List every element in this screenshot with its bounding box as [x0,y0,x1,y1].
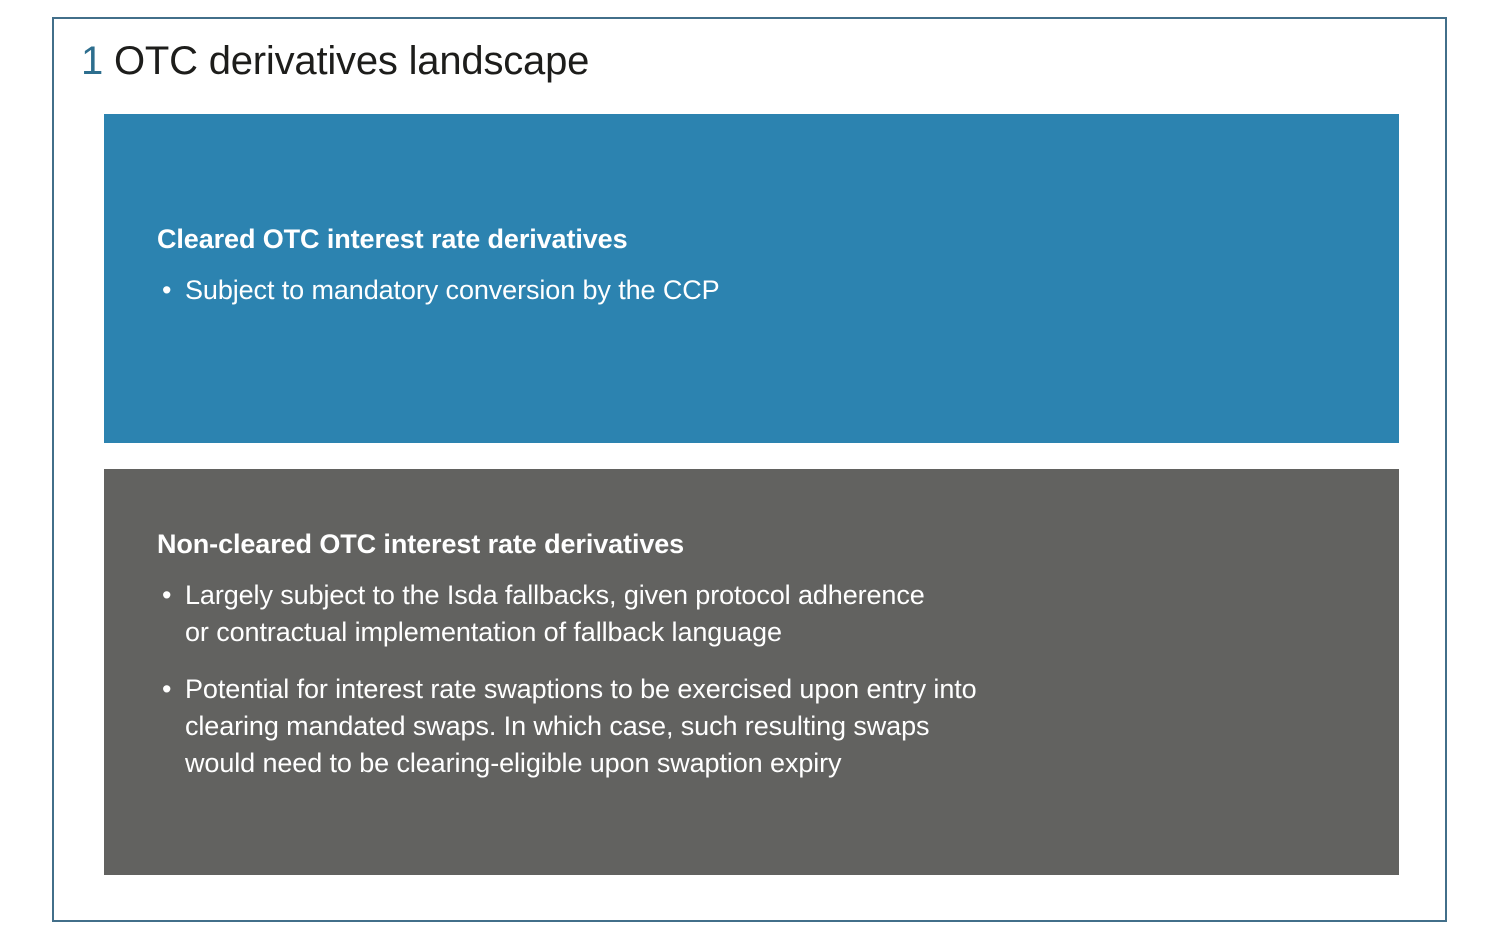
title-number: 1 [81,39,103,83]
bullet-line: would need to be clearing-eligible upon … [185,745,1369,782]
panel-non-cleared-bullet-list: • Largely subject to the Isda fallbacks,… [157,577,1369,782]
page-title: 1 OTC derivatives landscape [81,37,589,85]
bullet-line: or contractual implementation of fallbac… [185,614,1369,651]
figure-frame: 1 OTC derivatives landscape Cleared OTC … [52,17,1447,922]
panel-non-cleared-otc: Non-cleared OTC interest rate derivative… [104,469,1399,875]
bullet-line: Subject to mandatory conversion by the C… [185,272,1369,309]
list-item: • Potential for interest rate swaptions … [157,671,1369,782]
panel-non-cleared-heading: Non-cleared OTC interest rate derivative… [157,527,1369,561]
panel-cleared-otc: Cleared OTC interest rate derivatives • … [104,114,1399,443]
bullet-dot-icon: • [162,577,175,614]
title-spacer [103,39,114,83]
list-item: • Subject to mandatory conversion by the… [157,272,1369,309]
panel-cleared-content: Cleared OTC interest rate derivatives • … [157,222,1369,309]
panel-cleared-bullet-list: • Subject to mandatory conversion by the… [157,272,1369,309]
panel-non-cleared-content: Non-cleared OTC interest rate derivative… [157,527,1369,782]
bullet-line: Potential for interest rate swaptions to… [185,671,1369,708]
bullet-line: Largely subject to the Isda fallbacks, g… [185,577,1369,614]
list-item: • Largely subject to the Isda fallbacks,… [157,577,1369,651]
bullet-dot-icon: • [162,671,175,708]
panel-cleared-heading: Cleared OTC interest rate derivatives [157,222,1369,256]
bullet-dot-icon: • [162,272,175,309]
bullet-line: clearing mandated swaps. In which case, … [185,708,1369,745]
title-text: OTC derivatives landscape [114,39,589,83]
